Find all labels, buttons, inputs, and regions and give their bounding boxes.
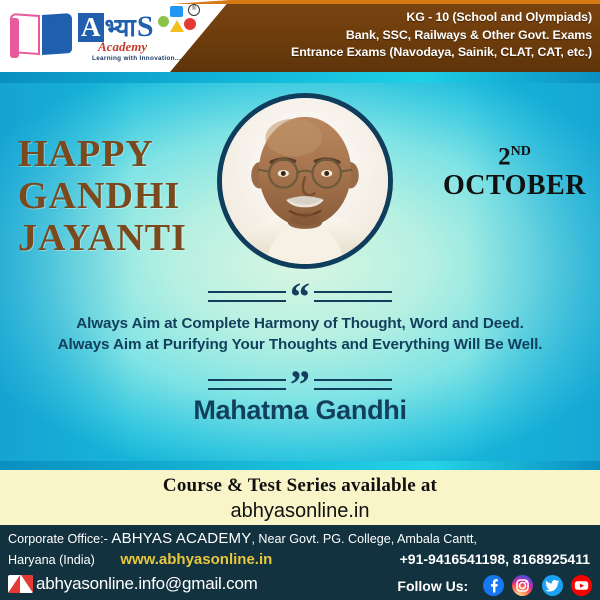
logo-letter-a: A: [78, 13, 104, 42]
gandhi-quote: Always Aim at Complete Harmony of Though…: [0, 313, 600, 355]
mid-cyan-divider: [0, 461, 600, 470]
quote-author: Mahatma Gandhi: [0, 395, 600, 426]
title-line-2: GANDHI: [18, 175, 187, 217]
rule-right: [314, 291, 392, 302]
gmail-icon: [8, 575, 33, 593]
header-orange-strip: [170, 0, 600, 4]
facebook-icon[interactable]: [483, 575, 504, 596]
follow-us-label: Follow Us:: [397, 578, 468, 594]
date-block: 2ND OCTOBER: [443, 138, 586, 201]
header-line-3: Entrance Exams (Navodaya, Sainik, CLAT, …: [192, 44, 592, 62]
yellow-triangle-icon: [170, 20, 184, 32]
address-part-2: Haryana (India): [8, 553, 95, 567]
phone-numbers[interactable]: +91-9416541198, 8168925411: [400, 551, 590, 567]
header-course-list: KG - 10 (School and Olympiads) Bank, SSC…: [192, 9, 592, 62]
rule-right: [314, 379, 392, 390]
date-day: 2ND: [443, 138, 586, 170]
green-circle-icon: [158, 16, 169, 27]
date-month: OCTOBER: [443, 170, 586, 201]
poster-main-art: HAPPY GANDHI JAYANTI 2ND OCTOBER: [0, 83, 600, 461]
address-part-1: , Near Govt. PG. College, Ambala Cantt,: [251, 532, 476, 546]
open-book-icon: [10, 14, 76, 58]
footer-website-link[interactable]: www.abhyasonline.in: [120, 551, 272, 568]
rule-left: [208, 379, 286, 390]
youtube-icon[interactable]: [571, 575, 592, 596]
quote-close-mark: ”: [286, 378, 314, 392]
title-line-1: HAPPY: [18, 133, 187, 175]
header-line-1: KG - 10 (School and Olympiads): [192, 9, 592, 27]
promo-band: Course & Test Series available at abhyas…: [0, 470, 600, 525]
logo-tagline: Learning with Innovation....: [92, 55, 183, 62]
footer-address-line-1: Corporate Office:- ABHYAS ACADEMY, Near …: [8, 530, 592, 547]
quote-open-mark: “: [286, 290, 314, 304]
footer-email[interactable]: abhyasonline.info@gmail.com: [36, 574, 258, 594]
promo-line-1: Course & Test Series available at: [0, 470, 600, 497]
poster-footer: Corporate Office:- ABHYAS ACADEMY, Near …: [0, 525, 600, 600]
quote-open-divider: “: [0, 288, 600, 306]
header-cyan-divider: [0, 72, 600, 83]
date-ordinal: ND: [511, 144, 531, 159]
company-name: ABHYAS ACADEMY: [111, 530, 251, 547]
quote-line-2: Always Aim at Purifying Your Thoughts an…: [0, 334, 600, 355]
gandhi-jayanti-poster: Aभ्याS Academy Learning with Innovation.…: [0, 0, 600, 600]
footer-contact-row: Follow Us: abhyasonline.info@gmail.com: [8, 574, 592, 596]
twitter-icon[interactable]: [542, 575, 563, 596]
instagram-icon[interactable]: [512, 575, 533, 596]
title-line-3: JAYANTI: [18, 217, 187, 259]
quote-close-divider: ”: [0, 376, 600, 394]
footer-address-line-2: +91-9416541198, 8168925411 Haryana (Indi…: [8, 551, 592, 568]
follow-us-group: Follow Us:: [397, 575, 592, 596]
poster-header: Aभ्याS Academy Learning with Innovation.…: [0, 0, 600, 72]
abhyas-academy-logo[interactable]: Aभ्याS Academy Learning with Innovation.…: [6, 2, 196, 70]
header-line-2: Bank, SSC, Railways & Other Govt. Exams: [192, 27, 592, 45]
gandhi-portrait: [217, 93, 393, 269]
quote-line-1: Always Aim at Complete Harmony of Though…: [0, 313, 600, 334]
blue-square-icon: [170, 6, 183, 17]
poster-title: HAPPY GANDHI JAYANTI: [18, 133, 187, 259]
office-label: Corporate Office:-: [8, 532, 108, 546]
logo-academy-word: Academy: [98, 39, 147, 55]
rule-left: [208, 291, 286, 302]
promo-website[interactable]: abhyasonline.in: [0, 497, 600, 523]
